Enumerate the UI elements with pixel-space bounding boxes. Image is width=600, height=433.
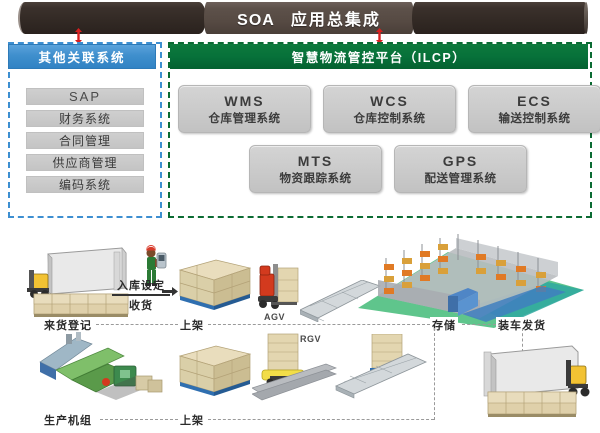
- process-step-bottom: 收货: [112, 296, 170, 313]
- module-name: 配送管理系统: [425, 170, 497, 186]
- flow-label-putaway-top: 上架: [178, 317, 206, 333]
- related-systems-header: 其他关联系统: [8, 44, 156, 69]
- pallet-boxes-illustration-2: [176, 342, 254, 400]
- list-item-coding[interactable]: 编码系统: [26, 176, 144, 193]
- conveyor-with-pallet-illustration: [330, 334, 430, 404]
- warehouse-racking-illustration: [352, 234, 590, 330]
- flow-label-inbound-registration: 来货登记: [42, 317, 94, 333]
- banner-title: SOA 应用总集成: [237, 6, 381, 30]
- module-card-mts[interactable]: MTS 物资跟踪系统: [249, 145, 382, 193]
- list-item-sap[interactable]: SAP: [26, 88, 144, 105]
- banner-abbr: SOA: [237, 12, 275, 30]
- ilcp-platform-header: 智慧物流管控平台（ILCP）: [170, 44, 588, 69]
- module-card-ecs[interactable]: ECS 输送控制系统: [468, 85, 600, 133]
- flow-label-production-unit: 生产机组: [42, 412, 94, 428]
- flow-dash-vertical-1: [434, 328, 435, 420]
- rgv-caption: RGV: [300, 334, 321, 344]
- agv-forklift-illustration: [256, 260, 302, 314]
- related-systems-list: SAP 财务系统 合同管理 供应商管理 编码系统: [26, 88, 144, 198]
- banner-segment-left: [18, 2, 206, 34]
- banner-segment-right: [412, 2, 588, 34]
- module-abbr: WMS: [224, 93, 264, 109]
- rgv-illustration: [252, 332, 338, 402]
- module-abbr: GPS: [443, 153, 479, 169]
- module-abbr: ECS: [517, 93, 552, 109]
- module-name: 输送控制系统: [499, 110, 571, 126]
- logistics-flow-illustration: 入库设定 收货: [0, 232, 600, 433]
- module-card-gps[interactable]: GPS 配送管理系统: [394, 145, 527, 193]
- module-cards-row-1: WMS 仓库管理系统 WCS 仓库控制系统 ECS 输送控制系统: [178, 85, 600, 133]
- flow-dash-2: [208, 324, 430, 325]
- diagram-root: SOA 应用总集成 其他关联系统 智慧物流管控平台（ILCP） SAP 财务系统…: [0, 0, 600, 433]
- module-name: 仓库控制系统: [354, 110, 426, 126]
- module-abbr: WCS: [370, 93, 409, 109]
- flow-dash-5: [208, 419, 434, 420]
- module-cards-row-2: MTS 物资跟踪系统 GPS 配送管理系统: [249, 145, 527, 193]
- production-line-illustration: [36, 332, 166, 404]
- flow-dash-3: [462, 324, 496, 325]
- soa-banner: SOA 应用总集成: [18, 2, 588, 34]
- banner-title-cn: 应用总集成: [291, 6, 381, 30]
- outbound-truck-illustration: [474, 340, 592, 422]
- list-item-finance[interactable]: 财务系统: [26, 110, 144, 127]
- module-name: 物资跟踪系统: [280, 170, 352, 186]
- flow-label-putaway-bottom: 上架: [178, 412, 206, 428]
- list-item-supplier[interactable]: 供应商管理: [26, 154, 144, 171]
- pallet-boxes-illustration-1: [176, 256, 254, 314]
- module-card-wcs[interactable]: WCS 仓库控制系统: [323, 85, 456, 133]
- flow-dash-1: [96, 324, 178, 325]
- agv-caption: AGV: [264, 312, 285, 322]
- list-item-contract[interactable]: 合同管理: [26, 132, 144, 149]
- module-name: 仓库管理系统: [209, 110, 281, 126]
- module-abbr: MTS: [298, 153, 334, 169]
- flow-dash-4: [100, 419, 178, 420]
- module-card-wms[interactable]: WMS 仓库管理系统: [178, 85, 311, 133]
